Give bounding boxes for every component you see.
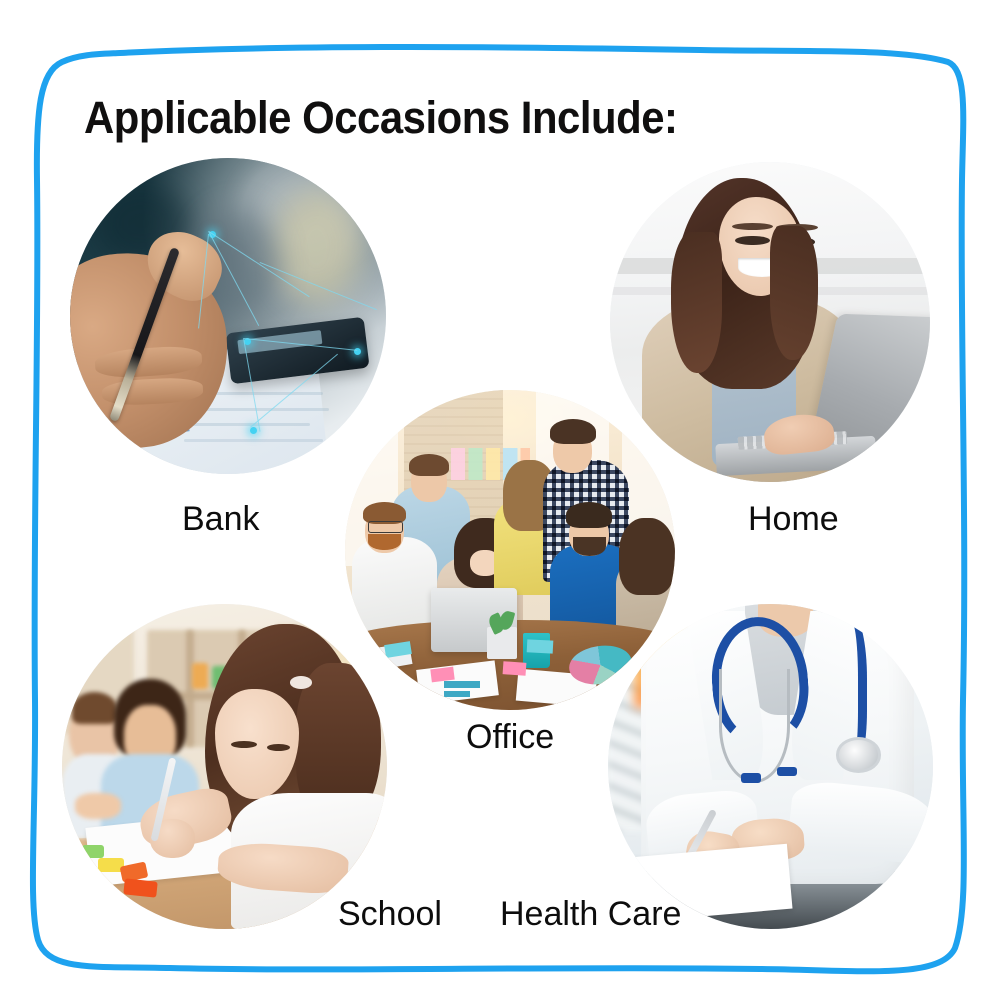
occasion-label-home: Home xyxy=(748,500,839,539)
infographic-canvas: Applicable Occasions Include: xyxy=(0,0,1000,1000)
occasion-label-bank: Bank xyxy=(182,500,260,539)
occasion-label-health-care: Health Care xyxy=(500,895,681,934)
occasion-image-health-care xyxy=(608,604,933,929)
occasion-image-school xyxy=(62,604,387,929)
occasion-label-school: School xyxy=(338,895,442,934)
occasion-image-bank xyxy=(70,158,386,474)
occasion-label-office: Office xyxy=(466,718,554,757)
page-title: Applicable Occasions Include: xyxy=(84,92,678,144)
